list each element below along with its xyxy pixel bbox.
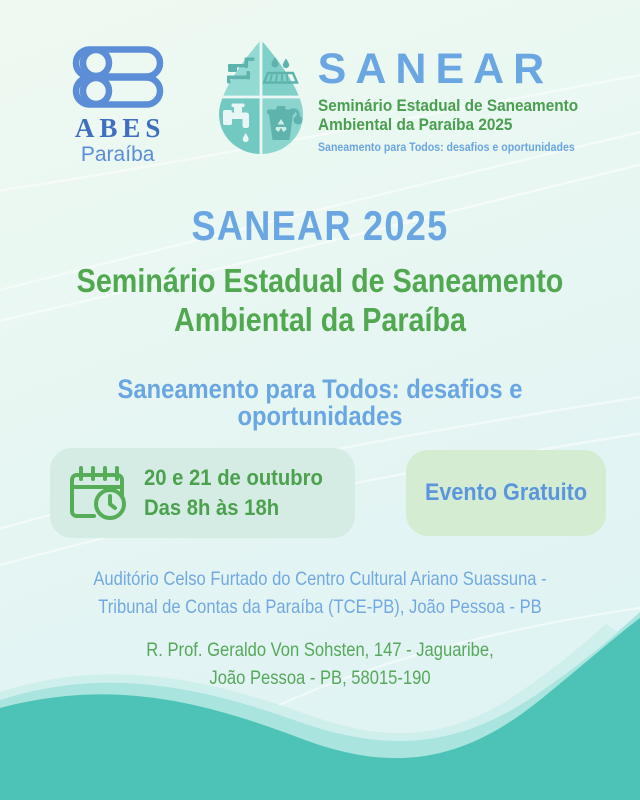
calendar-clock-icon — [68, 464, 130, 522]
event-poster: ABES Paraíba — [0, 0, 640, 800]
sanear-wordmark-block: SANEAR Seminário Estadual de Saneamento … — [318, 38, 598, 156]
free-event-label: Evento Gratuito — [425, 481, 587, 505]
venue-block: Auditório Celso Furtado do Centro Cultur… — [0, 566, 640, 693]
sanear-logo: SANEAR Seminário Estadual de Saneamento … — [215, 34, 598, 156]
sanear-subtitle: Seminário Estadual de Saneamento Ambient… — [318, 97, 578, 135]
recycling-bin-icon — [267, 106, 303, 140]
sanear-wordmark: SANEAR — [318, 50, 598, 90]
abes-region: Paraíba — [81, 144, 155, 165]
water-droplet-quadrants-icon — [215, 38, 307, 156]
poster-header: ABES Paraíba — [0, 34, 640, 174]
date-time-badge: 20 e 21 de outubro Das 8h às 18h — [50, 448, 355, 538]
venue-name: Auditório Celso Furtado do Centro Cultur… — [48, 566, 592, 621]
event-tagline: Saneamento para Todos: desafios e oportu… — [38, 376, 601, 430]
abes-name: ABES — [70, 115, 166, 142]
date-time-text: 20 e 21 de outubro Das 8h às 18h — [144, 463, 323, 523]
venue-address: R. Prof. Geraldo Von Sohsten, 147 - Jagu… — [48, 637, 592, 692]
free-event-badge: Evento Gratuito — [406, 450, 606, 536]
abes-logo: ABES Paraíba — [43, 34, 193, 165]
title-block: SANEAR 2025 Seminário Estadual de Saneam… — [0, 205, 640, 430]
event-subtitle: Seminário Estadual de Saneamento Ambient… — [42, 262, 599, 340]
abes-8b-monogram-icon — [72, 46, 164, 108]
sanear-tagline: Saneamento para Todos: desafios e oportu… — [318, 142, 575, 156]
badge-row: 20 e 21 de outubro Das 8h às 18h Evento … — [50, 448, 606, 540]
page-title: SANEAR 2025 — [45, 205, 595, 247]
